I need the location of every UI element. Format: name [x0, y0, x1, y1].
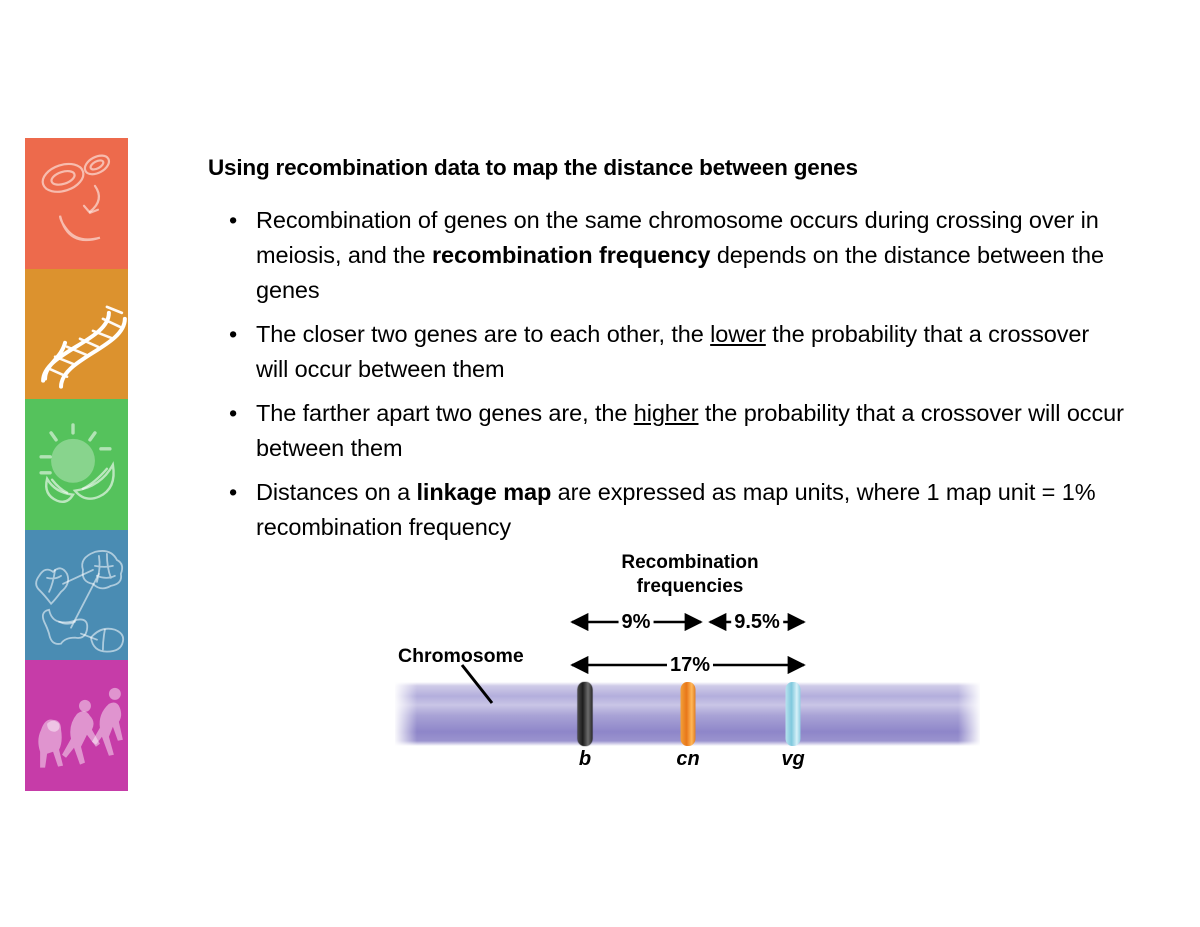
- bullet-list: •Recombination of genes on the same chro…: [222, 203, 1127, 554]
- dna-helix-icon: [25, 269, 128, 400]
- freq-label-9-5: 9.5%: [731, 611, 783, 634]
- bullet-marker: •: [229, 203, 237, 238]
- bullet-marker: •: [229, 475, 237, 510]
- evolution-icon: [25, 660, 128, 791]
- bullet-item: •The farther apart two genes are, the hi…: [222, 396, 1127, 466]
- gene-label-vg: vg: [781, 748, 804, 771]
- figure-heading-line1: Recombination: [621, 552, 758, 573]
- bullet-text-part: recombination frequency: [432, 242, 710, 268]
- figure-heading-line2: frequencies: [380, 575, 1000, 599]
- cells-icon: [25, 138, 128, 269]
- bullet-item: •Recombination of genes on the same chro…: [222, 203, 1127, 308]
- bullet-text-part: linkage map: [416, 479, 551, 505]
- organs-icon: [25, 530, 128, 661]
- sidebar-block-evolution: [25, 660, 128, 791]
- sidebar-block-dna: [25, 269, 128, 400]
- sidebar-block-cells: [25, 138, 128, 269]
- decorative-sidebar: [25, 138, 128, 791]
- bullet-text-part: lower: [710, 321, 766, 347]
- sidebar-block-plants: [25, 399, 128, 530]
- gene-band-cn: [681, 682, 696, 746]
- gene-label-b: b: [579, 748, 591, 771]
- bullet-item: •The closer two genes are to each other,…: [222, 317, 1127, 387]
- gene-band-b: [578, 682, 593, 746]
- bullet-text-part: The closer two genes are to each other, …: [256, 321, 710, 347]
- sidebar-block-organs: [25, 530, 128, 661]
- page-title: Using recombination data to map the dist…: [208, 155, 1108, 181]
- bullet-marker: •: [229, 396, 237, 431]
- bullet-item: •Distances on a linkage map are expresse…: [222, 475, 1127, 545]
- figure-heading: Recombination frequencies: [380, 551, 1000, 599]
- freq-label-17: 17%: [667, 654, 713, 677]
- gene-band-vg: [786, 682, 801, 746]
- bullet-text-part: higher: [634, 400, 699, 426]
- plant-sun-icon: [25, 399, 128, 530]
- gene-label-cn: cn: [676, 748, 699, 771]
- bullet-text-part: The farther apart two genes are, the: [256, 400, 634, 426]
- chromosome-label: Chromosome: [398, 645, 524, 668]
- bullet-text-part: Distances on a: [256, 479, 416, 505]
- freq-label-9: 9%: [619, 611, 654, 634]
- bullet-marker: •: [229, 317, 237, 352]
- linkage-map-figure: Recombination frequencies Chromosome b c…: [380, 545, 1000, 790]
